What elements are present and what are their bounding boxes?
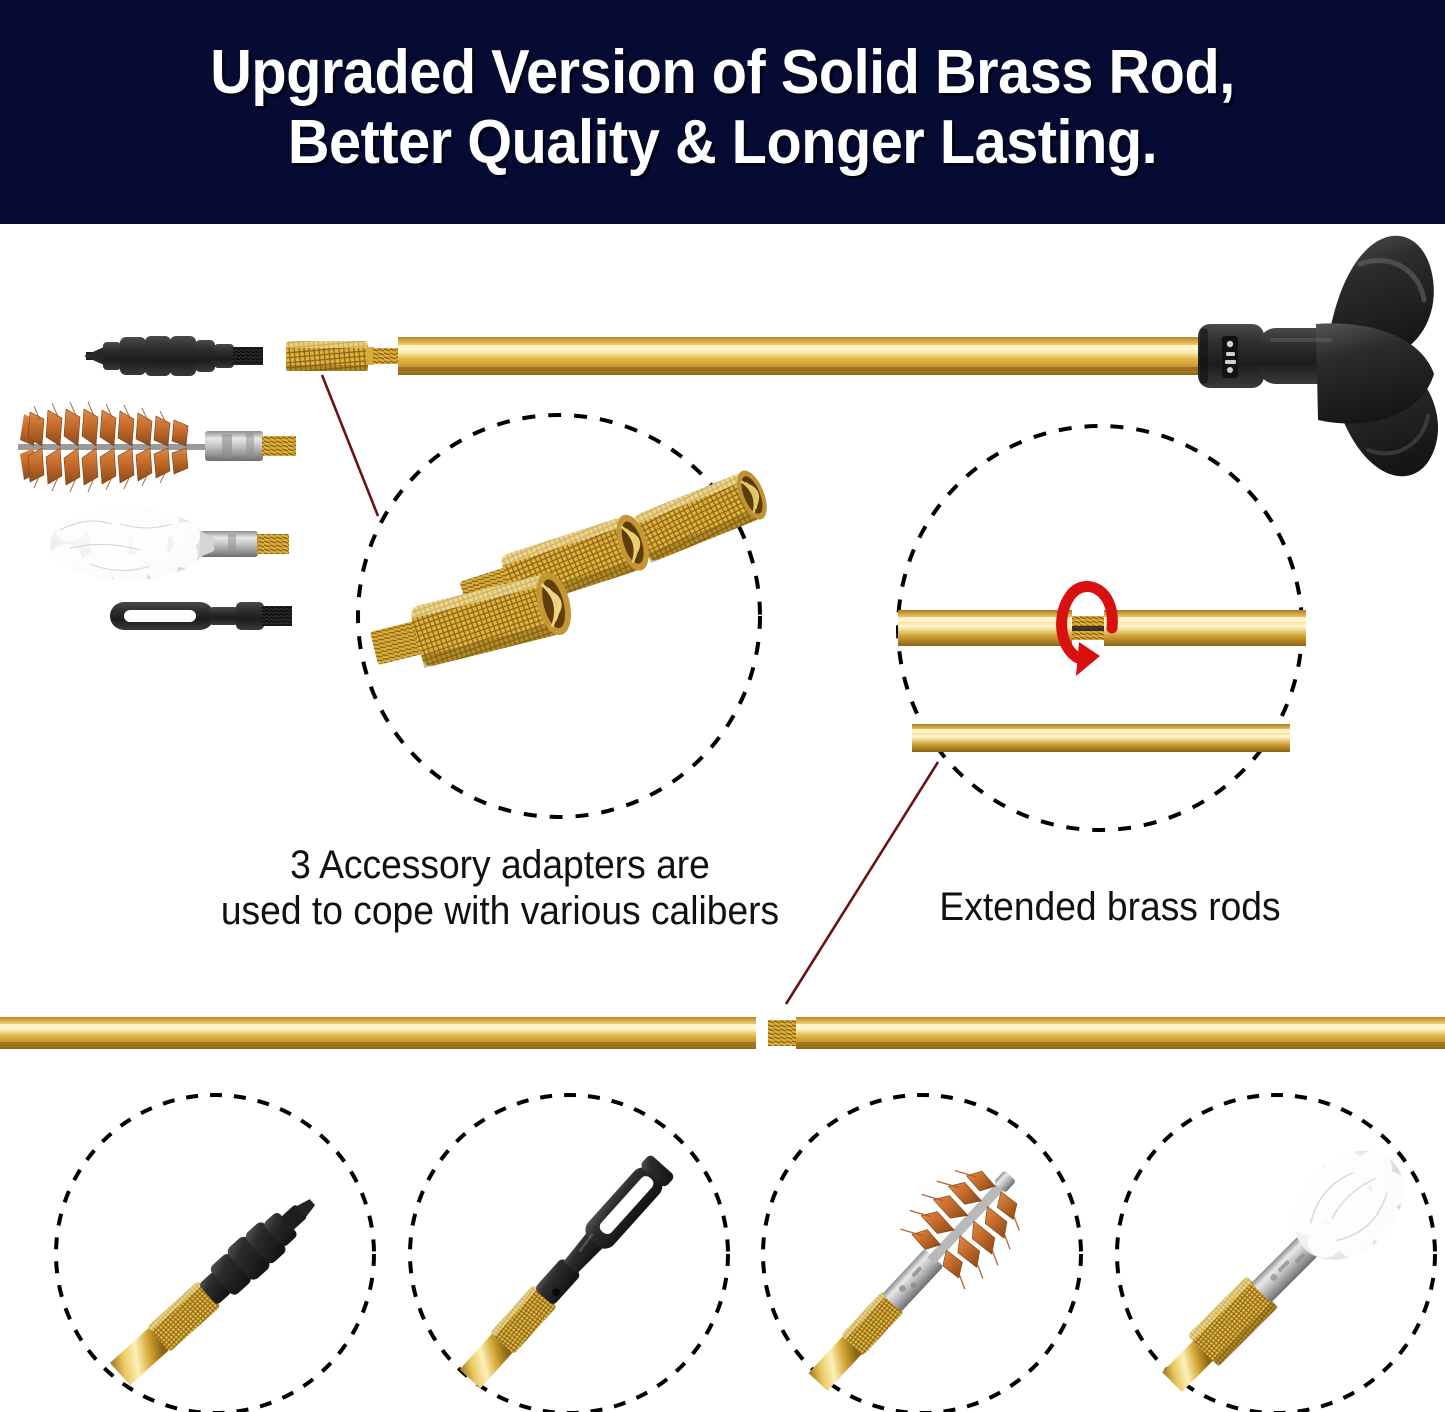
header-title-line2: Better Quality & Longer Lasting. [51,106,1395,180]
joint-rod-lower [912,724,1290,752]
rod-joint-detail-circle [898,426,1306,830]
header-banner: Upgraded Version of Solid Brass Rod, Bet… [0,0,1445,224]
caption-extended-rods: Extended brass rods [896,884,1324,930]
part-slotted-patch-loop [110,602,292,630]
leader-adapter-to-circle [322,375,378,516]
header-title-line1: Upgraded Version of Solid Brass Rod, [51,36,1395,110]
muzzle-guard-circle [56,1095,374,1412]
part-bronze-bore-brush [18,402,296,492]
patch-loop-circle [410,1095,728,1412]
product-illustration [0,224,1445,1412]
extension-rod-right-threaded [768,1017,1445,1049]
caption-adapters: 3 Accessory adapters are used to cope wi… [175,842,826,934]
cotton-mop-circle [1117,1095,1435,1412]
header-title: Upgraded Version of Solid Brass Rod, Bet… [51,36,1395,180]
main-brass-adapter [286,341,399,371]
main-brass-rod [398,337,1204,375]
joint-rod-left [898,610,1072,646]
black-t-handle [1198,236,1438,476]
part-muzzle-guard-jag [84,336,263,376]
part-cotton-mop [50,497,289,590]
bore-brush-circle [763,1095,1081,1412]
adapters-detail-circle [358,415,773,817]
joint-rod-right [1104,610,1306,646]
extension-rod-left [0,1017,756,1049]
